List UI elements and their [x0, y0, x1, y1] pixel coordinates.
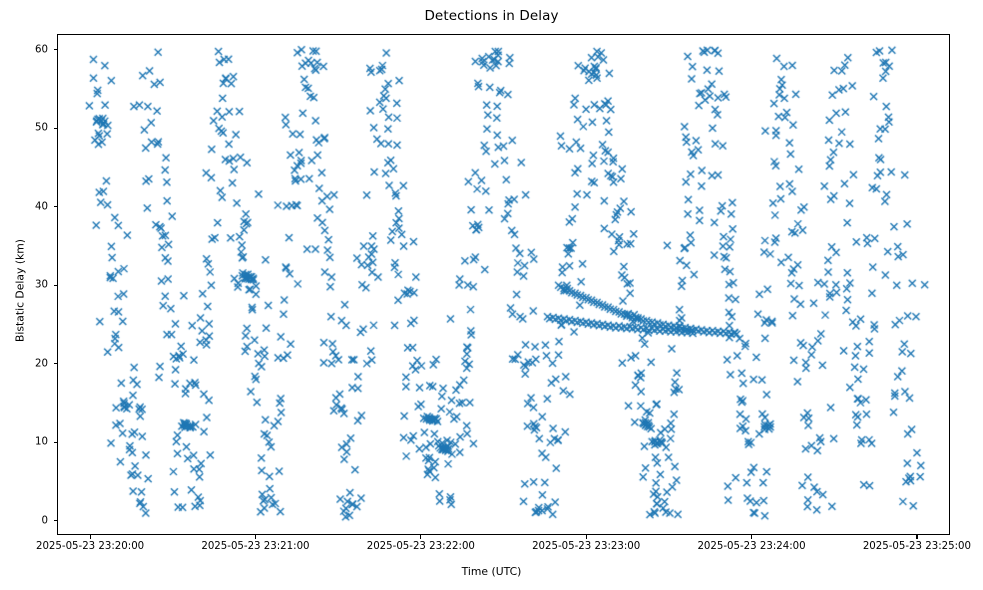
y-tick-mark [54, 520, 58, 521]
chart-title: Detections in Delay [0, 8, 983, 24]
x-axis-label: Time (UTC) [0, 565, 983, 578]
x-tick-label: 2025-05-23 23:23:00 [532, 541, 640, 552]
x-tick-label: 2025-05-23 23:20:00 [36, 541, 144, 552]
x-tick-label: 2025-05-23 23:24:00 [697, 541, 805, 552]
x-tick-mark [90, 535, 91, 539]
figure-canvas: Detections in Delay 2025-05-23 23:20:002… [0, 0, 983, 590]
y-tick-mark [54, 442, 58, 443]
scatter-plot-canvas [58, 35, 949, 534]
x-tick-label: 2025-05-23 23:25:00 [863, 541, 971, 552]
x-tick-mark [420, 535, 421, 539]
y-axis-label: Bistatic Delay (km) [14, 141, 27, 441]
y-tick-mark [54, 49, 58, 50]
x-tick-mark [586, 535, 587, 539]
plot-axes-area[interactable] [57, 34, 950, 535]
x-tick-mark [916, 535, 917, 539]
y-tick-label: 60 [8, 44, 48, 55]
y-tick-label: 0 [8, 515, 48, 526]
x-tick-mark [255, 535, 256, 539]
x-tick-mark [751, 535, 752, 539]
y-tick-mark [54, 206, 58, 207]
x-tick-label: 2025-05-23 23:21:00 [201, 541, 309, 552]
y-tick-label: 50 [8, 123, 48, 134]
y-tick-mark [54, 285, 58, 286]
y-tick-mark [54, 128, 58, 129]
x-tick-label: 2025-05-23 23:22:00 [367, 541, 475, 552]
y-tick-mark [54, 363, 58, 364]
